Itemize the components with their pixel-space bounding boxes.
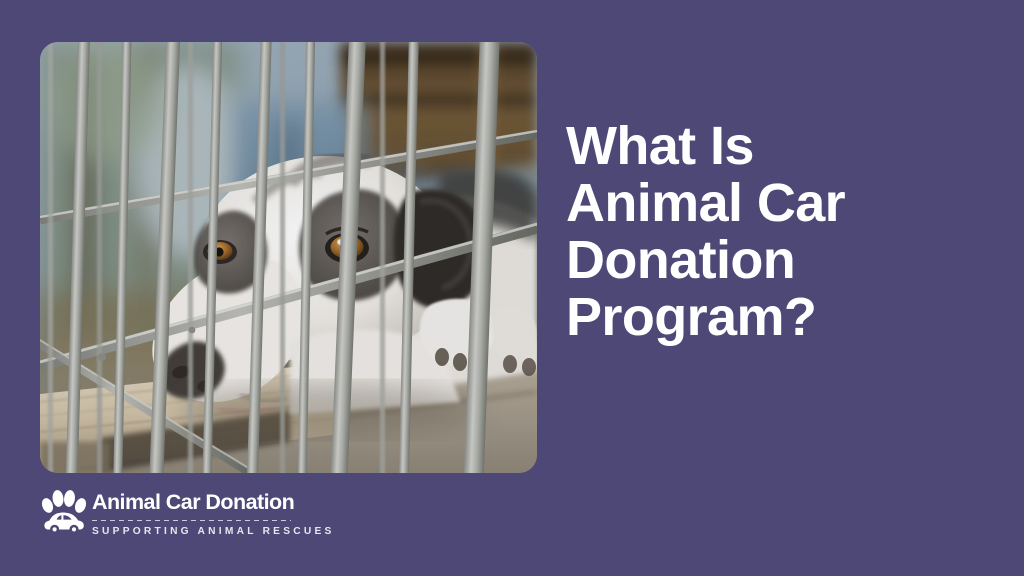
logo-name: Animal Car Donation [92, 491, 335, 514]
logo-tagline: SUPPORTING ANIMAL RESCUES [92, 526, 335, 538]
headline-line-1: What Is [566, 118, 986, 175]
logo-divider [92, 520, 291, 521]
headline-line-4: Program? [566, 289, 986, 346]
brand-logo: Animal Car Donation SUPPORTING ANIMAL RE… [41, 487, 335, 543]
logo-text-block: Animal Car Donation SUPPORTING ANIMAL RE… [92, 487, 335, 538]
paw-car-glyph [41, 488, 87, 538]
headline-line-2: Animal Car [566, 175, 986, 232]
dog-in-cage-illustration [40, 42, 537, 473]
paw-car-icon [41, 488, 87, 538]
headline-line-3: Donation [566, 232, 986, 289]
slide-canvas: What Is Animal Car Donation Program? [0, 0, 1024, 576]
page-title: What Is Animal Car Donation Program? [566, 118, 986, 346]
dog-in-cage-photo [40, 42, 537, 473]
